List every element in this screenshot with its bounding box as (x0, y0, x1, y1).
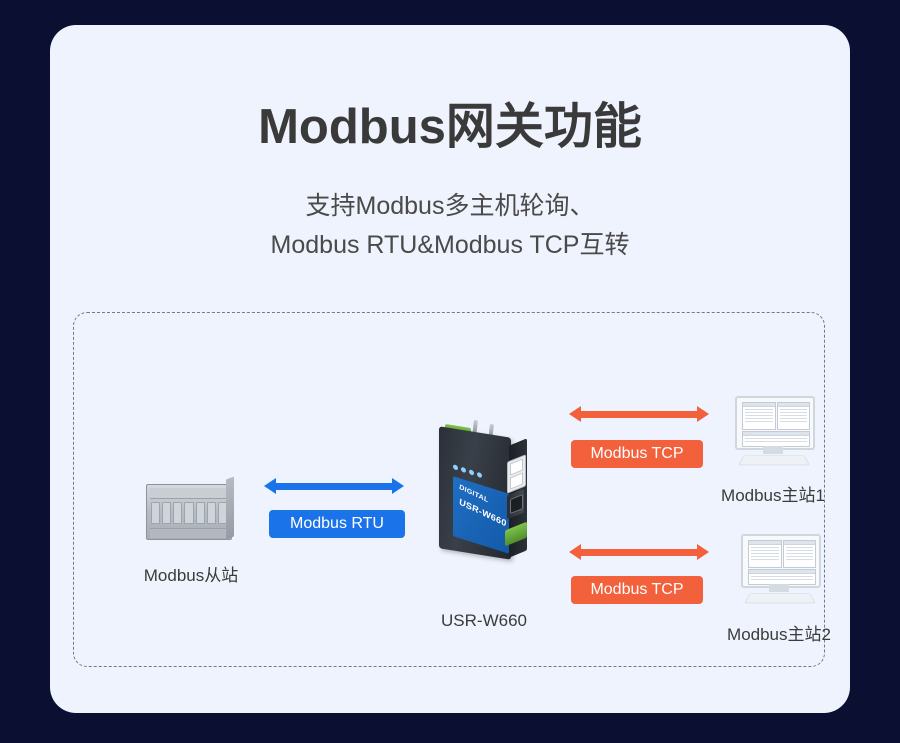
arrow-head-right-icon (697, 544, 709, 560)
screen-window (748, 540, 782, 568)
plc-bottom-strip (150, 528, 228, 538)
protocol-tag-modbus-rtu: Modbus RTU (269, 510, 405, 538)
plc-side-face (226, 477, 234, 540)
plc-slots (151, 502, 227, 524)
gateway-body: DIGITAL USR-W660 (439, 426, 511, 559)
node-label-master-1: Modbus主站1 (663, 481, 883, 506)
arrow-line (580, 411, 698, 418)
arrow-head-right-icon (392, 478, 404, 494)
arrow-line (275, 483, 393, 490)
screen-window (783, 540, 816, 568)
computer-monitor-icon (735, 396, 811, 466)
screen-window (742, 431, 810, 447)
monitor-stand (769, 584, 789, 592)
arrow-line (580, 549, 698, 556)
monitor-stand (763, 446, 783, 454)
arrow-modbus-tcp-2 (569, 544, 709, 560)
node-label-master-2: Modbus主站2 (669, 620, 889, 645)
page-root: Modbus网关功能 支持Modbus多主机轮询、 Modbus RTU&Mod… (0, 0, 900, 743)
gateway-device-icon: DIGITAL USR-W660 (429, 414, 539, 569)
computer-monitor-icon (741, 534, 817, 604)
arrow-head-right-icon (697, 406, 709, 422)
arrow-modbus-tcp-1 (569, 406, 709, 422)
diagram-container: Modbus从站 Modbus RTU DIGITAL USR-W660 (73, 312, 825, 667)
protocol-tag-modbus-tcp-2: Modbus TCP (571, 576, 703, 604)
subtitle-line-2: Modbus RTU&Modbus TCP互转 (50, 226, 850, 265)
node-label-slave: Modbus从站 (91, 561, 291, 586)
protocol-tag-modbus-tcp-1: Modbus TCP (571, 440, 703, 468)
page-title: Modbus网关功能 (50, 87, 850, 158)
plc-body (146, 484, 232, 540)
content-card: Modbus网关功能 支持Modbus多主机轮询、 Modbus RTU&Mod… (50, 25, 850, 713)
screen-window (748, 569, 816, 585)
page-subtitle: 支持Modbus多主机轮询、 Modbus RTU&Modbus TCP互转 (50, 187, 850, 265)
arrow-modbus-rtu (264, 478, 404, 494)
plc-top-strip (150, 488, 228, 499)
monitor-screen (735, 396, 815, 450)
gateway-front-panel: DIGITAL USR-W660 (453, 476, 509, 554)
keyboard-icon (744, 593, 816, 603)
plc-device-icon (146, 478, 234, 546)
screen-window (742, 402, 776, 430)
screen-window (777, 402, 810, 430)
keyboard-icon (738, 455, 810, 465)
monitor-screen (741, 534, 821, 588)
subtitle-line-1: 支持Modbus多主机轮询、 (50, 187, 850, 226)
node-label-gateway: USR-W660 (384, 611, 584, 631)
